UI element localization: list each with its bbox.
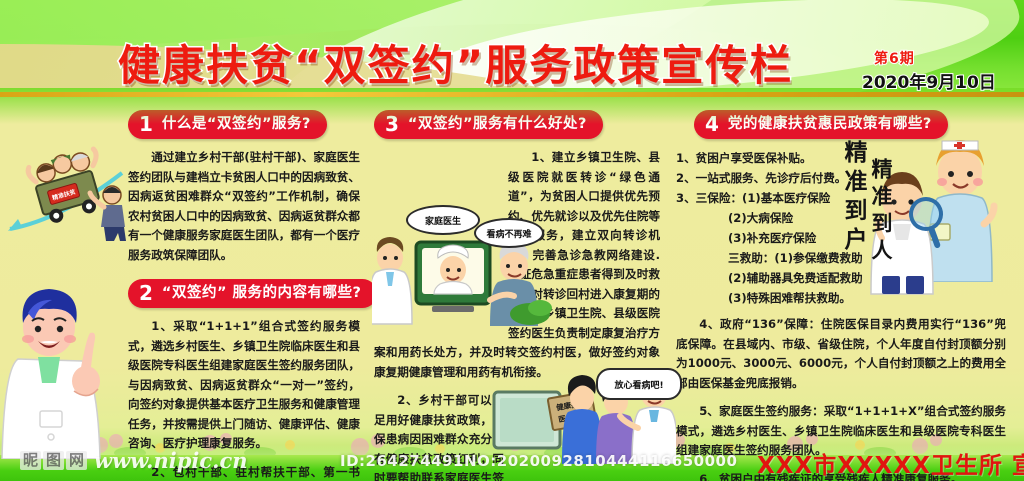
section-1-paragraph-1: 通过建立乡村干部(驻村干部)、家庭医生签约团队与建档立卡贫困人口中的因病致贫、因…: [128, 148, 360, 265]
list-item: (3)特殊困难帮扶救助。: [676, 288, 872, 308]
list-item: (2)辅助器具免费适配救助: [676, 268, 872, 288]
issuing-organization: XXX市XXXXX卫生所 宣: [757, 446, 1024, 480]
issue-date: 2020年9月10日: [862, 68, 996, 93]
watermark-url: www.nipic.cn: [94, 448, 248, 473]
slogan-line-1: 精准到户: [838, 140, 868, 256]
watermark-char-3: 网: [66, 451, 87, 470]
section-number-2: 2: [139, 283, 153, 303]
watermark-char-1: 昵: [20, 451, 41, 470]
section-header-2[interactable]: 2 “双签约” 服务的内容有哪些?: [128, 279, 377, 308]
speech-bubble-no-more-trouble: 看病不再难: [474, 218, 544, 248]
site-watermark: 昵 图 网 www.nipic.cn: [20, 448, 248, 473]
watermark-char-2: 图: [43, 451, 64, 470]
issue-number: 第6期: [874, 48, 915, 68]
slogan-line-2: 精准到人: [866, 158, 896, 266]
poster-board: 健康扶贫“双签约”服务政策宣传栏 第6期 2020年9月10日: [0, 0, 1024, 481]
poverty-alleviation-truck-illustration: 精准扶贫: [4, 133, 136, 245]
watermark-id-text: ID:264274491NO:2020092810444116650000: [340, 452, 737, 470]
section-2-paragraph-1: 1、采取“1+1+1”组合式签约服务模式，遴选乡村医生、乡镇卫生院临床医生和县级…: [128, 317, 360, 454]
speech-bubble-family-doctor: 家庭医生: [406, 205, 480, 235]
female-doctor-illustration: [0, 283, 118, 459]
speech-bubble-rest-assured: 放心看病吧!: [596, 368, 682, 400]
column-left: 1 什么是“双签约”服务? 通过建立乡村干部(驻村干部)、家庭医生签约团队与建档…: [128, 110, 360, 481]
poster-title: 健康扶贫“双签约”服务政策宣传栏: [118, 42, 793, 90]
section-title-2: “双签约” 服务的内容有哪些?: [162, 286, 362, 301]
site-watermark-badge: 昵 图 网: [20, 451, 87, 470]
section-4-paragraph-1: 4、政府“136”保障：住院医保目录内费用实行“136”兜底保障。在县域内、市级…: [676, 315, 1006, 393]
